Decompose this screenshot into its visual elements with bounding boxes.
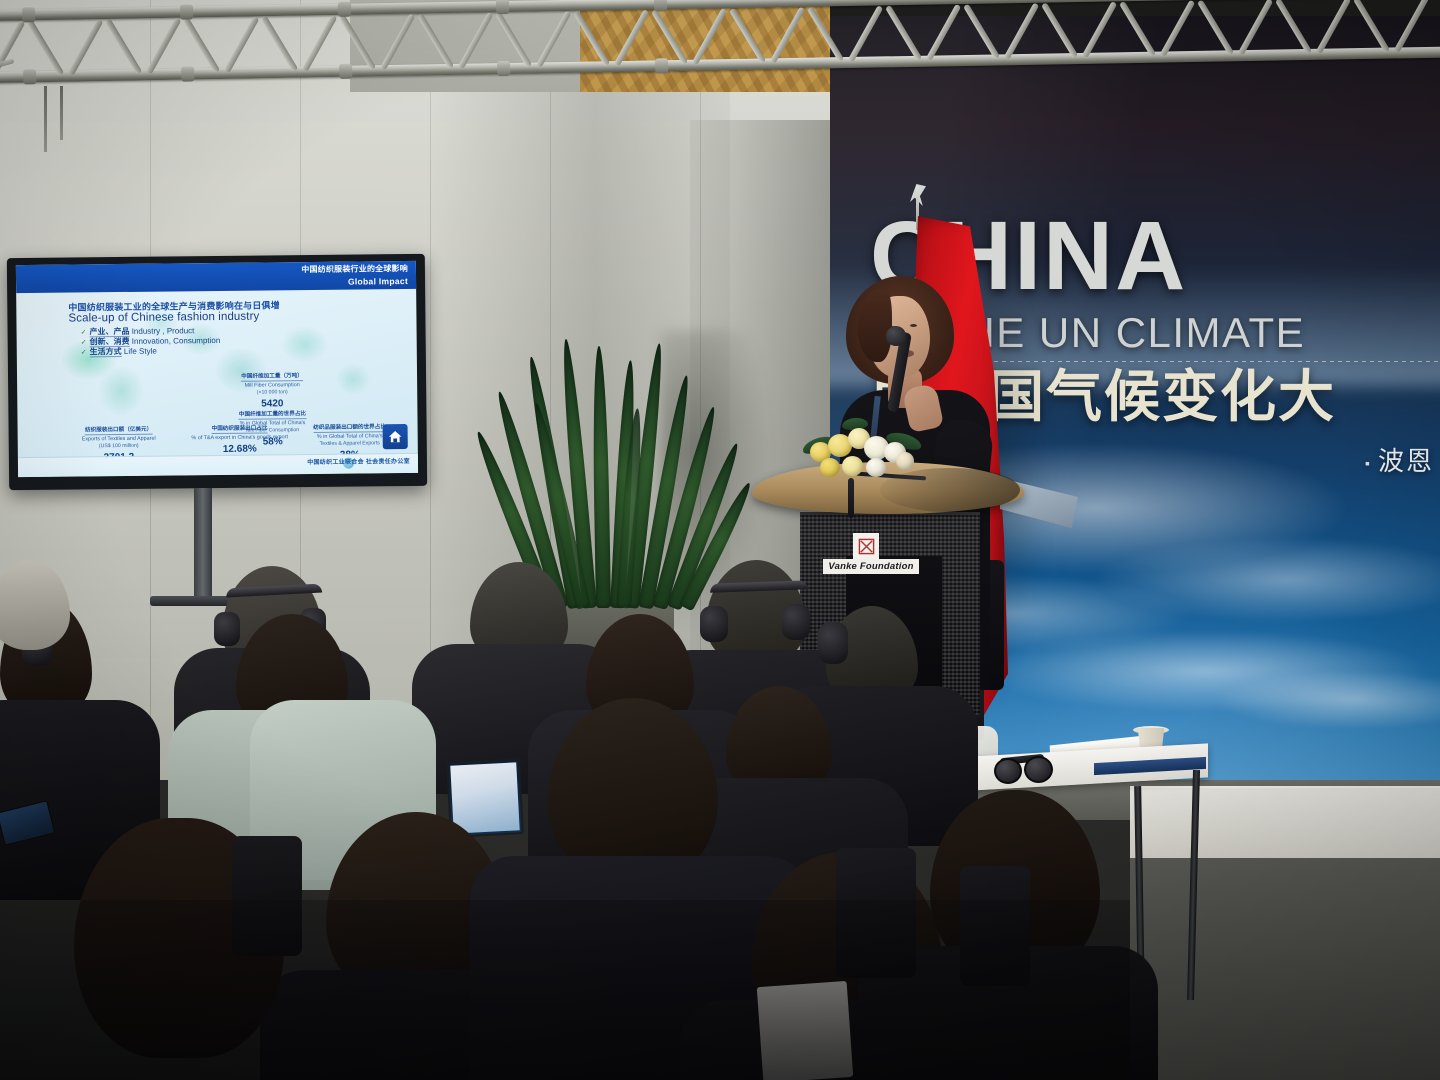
stage-front-edge — [1130, 786, 1440, 860]
truss-web — [1275, 0, 1312, 54]
speaker-hair-front — [858, 290, 892, 362]
truss-web — [1160, 0, 1195, 57]
truss-web — [183, 17, 220, 73]
banner-city-label: 波恩 — [1378, 446, 1434, 476]
truss-node — [654, 0, 667, 11]
floor — [1130, 858, 1440, 1080]
truss-node — [23, 69, 36, 84]
bullet-3-chinese: 生活方式 — [90, 347, 122, 357]
truss-hanger — [44, 86, 47, 152]
truss-hanger — [60, 86, 63, 140]
truss-web — [1119, 1, 1156, 57]
laptop-screen — [450, 762, 519, 833]
truss-web — [261, 16, 298, 72]
presentation-monitor[interactable]: 中国纺织服装行业的全球影响 Global Impact 中国纺织服装工业的全球生… — [7, 254, 427, 490]
slide-header: 中国纺织服装行业的全球影响 Global Impact — [16, 261, 416, 293]
truss-web — [651, 9, 688, 65]
check-icon: ✓ — [81, 349, 87, 356]
truss-node — [338, 2, 351, 17]
truss-web — [885, 5, 922, 61]
truss-web — [458, 12, 493, 69]
truss-web — [302, 15, 337, 72]
check-icon: ✓ — [81, 339, 87, 346]
headphone-cup-left — [994, 758, 1022, 784]
truss-web — [1238, 0, 1273, 55]
truss-node — [655, 58, 668, 73]
stat-3-label-cn: 中国纺织服装出口占比 — [212, 423, 268, 433]
truss-web — [614, 9, 649, 66]
truss-web — [573, 10, 610, 66]
truss-web — [224, 16, 259, 73]
snake-plant — [536, 338, 706, 608]
truss-web — [1041, 2, 1078, 58]
chair-back — [960, 866, 1030, 986]
conference-photo-scene: CHINA AT THE UN CLIMATE 联合国气候变化大 ▪波恩 — [0, 0, 1440, 1080]
truss-node — [497, 61, 510, 76]
flower-arrangement — [802, 414, 920, 484]
truss-web — [692, 8, 727, 65]
stat-0-label-cn: 中国纤维加工量（万吨） — [241, 371, 303, 381]
headset-earcup — [782, 604, 810, 640]
truss-web — [1004, 2, 1039, 59]
house-logo-icon — [383, 424, 408, 449]
microphone-head — [886, 326, 906, 346]
chair-back — [232, 836, 302, 956]
bullet-icon: ▪ — [1365, 455, 1372, 471]
stat-2-label-unit: (US$ 100 million) — [60, 442, 178, 450]
podium-sign-label: Vanke Foundation — [823, 559, 919, 574]
truss-node — [22, 7, 35, 22]
headphone-cup-right — [1024, 756, 1053, 783]
stat-0-label-unit: (×10 000 ton) — [213, 389, 331, 397]
check-icon: ✓ — [81, 329, 87, 336]
truss-web — [926, 4, 961, 61]
truss-node — [181, 66, 194, 81]
bullet-3-english: Life Style — [124, 347, 157, 356]
truss-web — [380, 13, 415, 70]
slide-stat-3: 中国纺织服装出口占比 % of T&A export in China's go… — [175, 416, 303, 455]
bullet-2-english: Innovation, Consumption — [132, 336, 221, 346]
truss-web — [68, 19, 103, 76]
truss-node — [339, 64, 352, 79]
truss-web — [848, 5, 883, 62]
headset-earcup — [818, 622, 848, 664]
paper-sheet-on-lap — [757, 981, 853, 1080]
stat-4-label-cn: 纺织品服装出口额的世界占比 — [313, 422, 386, 432]
truss-web — [105, 19, 142, 75]
speaker-eye-right — [910, 324, 917, 327]
slide-bullet-3: ✓生活方式 Life Style — [81, 346, 157, 358]
truss-web — [729, 8, 766, 64]
chair-back — [836, 848, 916, 978]
truss-web — [146, 17, 181, 74]
slide-footer-mark: 中国纺织工业联合会 社会责任办公室 — [307, 456, 410, 466]
podium-microphone-stem — [848, 478, 854, 518]
truss-web — [1197, 0, 1234, 56]
truss-web — [339, 14, 376, 70]
truss-node — [496, 0, 509, 14]
truss-web — [770, 7, 805, 64]
truss-web — [495, 12, 532, 68]
headset-earcup — [214, 612, 240, 646]
monitor-stand — [194, 488, 212, 598]
vanke-logo-icon — [853, 533, 879, 559]
truss-web — [1353, 0, 1390, 53]
truss-web — [417, 13, 454, 69]
slide-screen: 中国纺织服装行业的全球影响 Global Impact 中国纺织服装工业的全球生… — [16, 261, 418, 477]
truss-web — [536, 11, 571, 68]
banner-city: ▪波恩 — [1365, 441, 1434, 478]
slide-title-english: Scale-up of Chinese fashion industry — [68, 311, 259, 325]
truss-web — [1394, 0, 1429, 53]
headset-earcup — [700, 606, 728, 642]
slide-footer: 中国纺织工业联合会 社会责任办公室 — [18, 453, 418, 477]
stat-3-label-en: % of T&A export in China's goods export — [176, 434, 304, 442]
truss-web — [807, 6, 844, 62]
truss-web — [1082, 1, 1117, 58]
truss-node — [180, 4, 193, 19]
truss-web — [1316, 0, 1351, 54]
truss-web — [27, 20, 64, 76]
podium-sign: Vanke Foundation — [823, 533, 919, 581]
truss-web — [963, 4, 1000, 60]
stat-2-label-cn: 纺织服装出口额（亿美元） — [85, 425, 152, 435]
